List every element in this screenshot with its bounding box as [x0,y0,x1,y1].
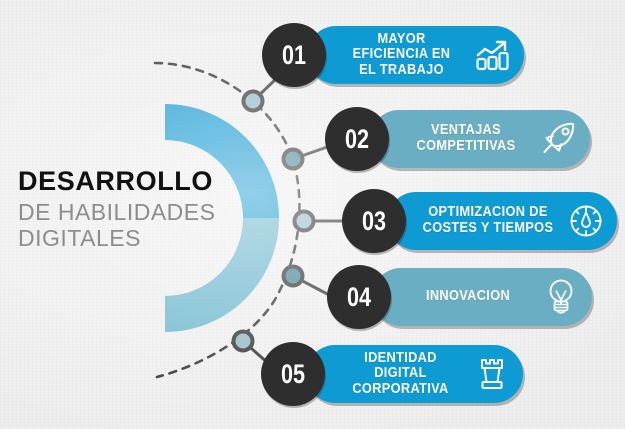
list-item[interactable]: IDENTIDAD DIGITAL CORPORATIVA 05 [261,345,523,403]
item-number-04: 04 [347,282,371,313]
item-pill-04[interactable]: INNOVACION [372,268,592,326]
lightbulb-icon [538,277,584,317]
item-pill-03[interactable]: OPTIMIZACION DE COSTES Y TIEMPOS [387,192,617,250]
item-label-02: VENTAJAS COMPETITIVAS [404,123,527,154]
item-number-badge-05[interactable]: 05 [261,342,325,406]
list-item[interactable]: OPTIMIZACION DE COSTES Y TIEMPOS [342,192,617,250]
chess-rook-icon [469,355,515,393]
item-label-04: INNOVACION [406,289,529,305]
infographic-canvas: DESARROLLO DE HABILIDADES DIGITALES MAYO… [0,0,625,429]
title-block: DESARROLLO DE HABILIDADES DIGITALES [18,168,248,251]
item-number-05: 05 [281,359,305,390]
item-number-badge-04[interactable]: 04 [327,265,391,329]
list-item[interactable]: INNOVACION 04 [327,268,592,326]
item-pill-02[interactable]: VENTAJAS COMPETITIVAS [370,110,590,168]
item-number-badge-02[interactable]: 02 [325,107,389,171]
item-number-03: 03 [362,206,386,237]
page-title: DESARROLLO [18,168,248,196]
item-label-01: MAYOR EFICIENCIA EN EL TRABAJO [341,32,462,79]
gauge-icon [563,202,609,240]
item-label-05: IDENTIDAD DIGITAL CORPORATIVA [340,351,461,398]
list-item[interactable]: VENTAJAS COMPETITIVAS 02 [325,110,590,168]
page-subtitle-line1: DE HABILIDADES [18,200,248,226]
rocket-icon [536,121,582,157]
list-item[interactable]: MAYOR EFICIENCIA EN EL TRABAJO 01 [262,26,524,84]
item-number-02: 02 [345,124,369,155]
item-label-03: OPTIMIZACION DE COSTES Y TIEMPOS [422,205,554,236]
page-subtitle-line2: DIGITALES [18,226,248,252]
item-number-badge-01[interactable]: 01 [262,23,326,87]
item-number-01: 01 [282,40,306,71]
item-number-badge-03[interactable]: 03 [342,189,406,253]
bar-chart-growth-icon [470,38,516,72]
item-pill-05[interactable]: IDENTIDAD DIGITAL CORPORATIVA [306,345,523,403]
item-pill-01[interactable]: MAYOR EFICIENCIA EN EL TRABAJO [307,26,524,84]
